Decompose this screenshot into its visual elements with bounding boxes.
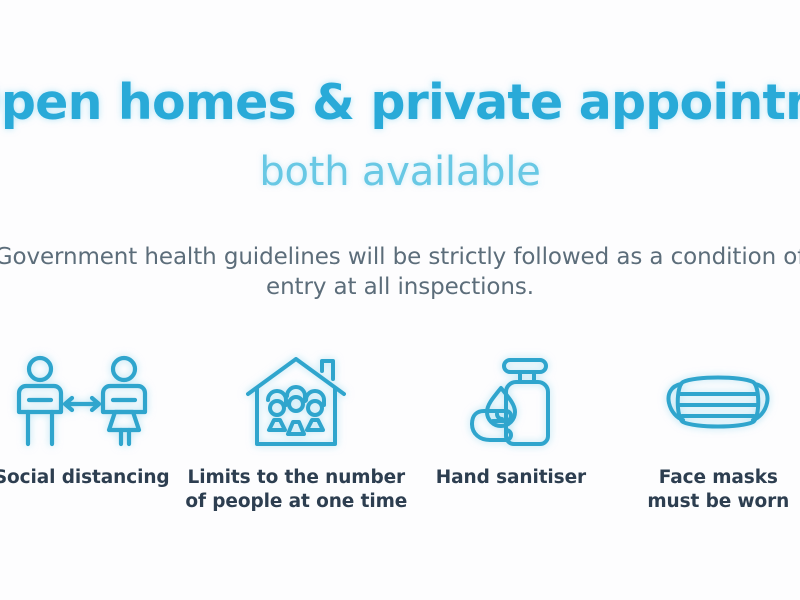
hand-sanitiser-icon <box>468 352 554 452</box>
guidelines-icon-row: Social distancing <box>0 352 800 515</box>
guideline-item-social-distancing: Social distancing <box>0 352 185 490</box>
guideline-label-hand-sanitiser: Hand sanitiser <box>436 466 586 490</box>
page-subtitle: both available <box>0 152 800 192</box>
social-distancing-icon <box>16 352 148 452</box>
guideline-label-line-1: Hand sanitiser <box>436 467 586 488</box>
guideline-label-line-1: Limits to the number <box>188 467 406 488</box>
guideline-label-line-2: must be worn <box>647 490 789 514</box>
guideline-label-face-mask: Face masks must be worn <box>647 466 789 515</box>
page-title: Open homes & private appointments <box>0 78 800 127</box>
guideline-label-line-2: of people at one time <box>185 490 407 514</box>
guideline-item-face-mask: Face masks must be worn <box>615 352 800 515</box>
guideline-label-people-limit: Limits to the number of people at one ti… <box>185 466 407 515</box>
body-paragraph: Government health guidelines will be str… <box>0 242 800 303</box>
house-with-people-icon <box>244 352 348 452</box>
face-mask-icon <box>659 352 777 452</box>
guideline-item-hand-sanitiser: Hand sanitiser <box>407 352 614 490</box>
guideline-label-line-1: Face masks <box>659 467 778 488</box>
covid-safe-inspection-poster: Open homes & private appointments both a… <box>0 0 800 600</box>
body-paragraph-line-2: entry at all inspections. <box>0 272 800 302</box>
guideline-label-line-1: Social distancing <box>0 467 170 488</box>
guideline-item-people-limit: Limits to the number of people at one ti… <box>185 352 407 515</box>
guideline-label-social-distancing: Social distancing <box>0 466 170 490</box>
body-paragraph-line-1: Government health guidelines will be str… <box>0 242 800 272</box>
